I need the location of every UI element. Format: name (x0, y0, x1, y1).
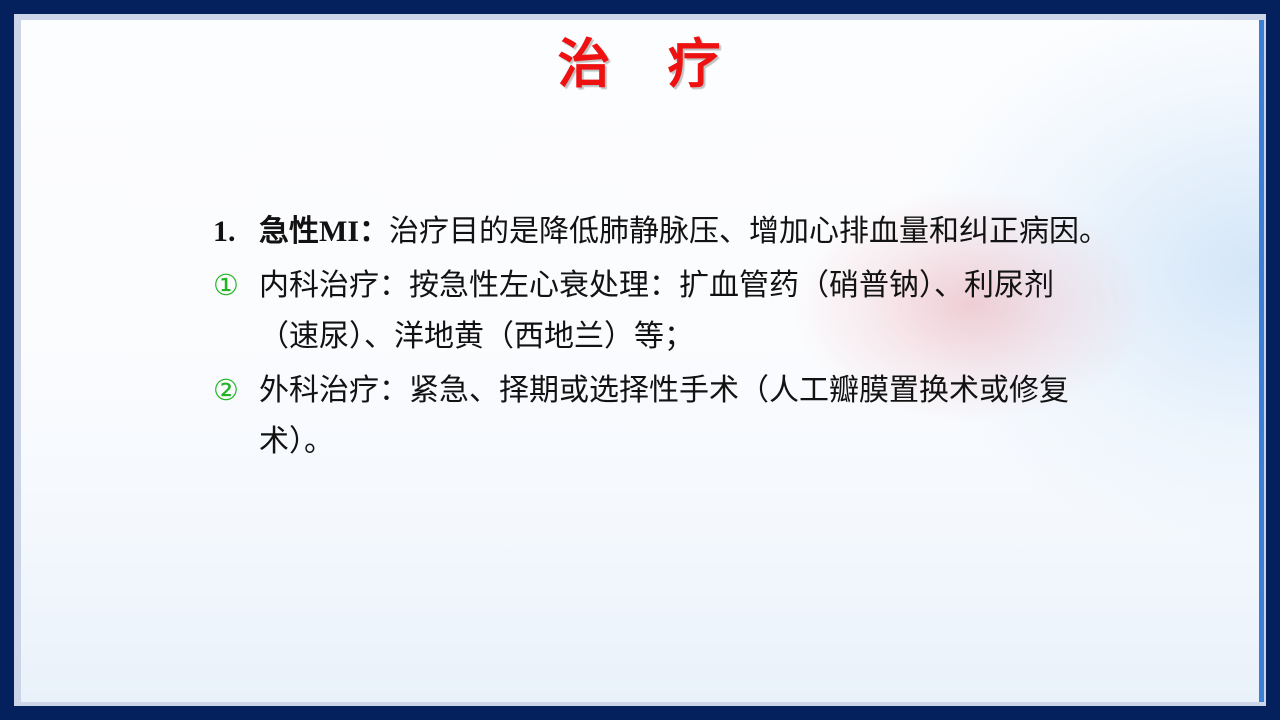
list-item-marker: ① (213, 260, 259, 311)
slide-content-area: 治 疗 1.急性MI：治疗目的是降低肺静脉压、增加心排血量和纠正病因。 ①内科治… (21, 20, 1259, 702)
list-item-text: 内科治疗：按急性左心衰处理：扩血管药（硝普钠）、利尿剂（速尿）、洋地黄（西地兰）… (259, 269, 1054, 353)
list-item-marker: ② (213, 365, 259, 416)
list-item-lead: 急性MI： (259, 215, 389, 248)
list-item-marker: 1. (213, 206, 259, 257)
list-item: ②外科治疗：紧急、择期或选择性手术（人工瓣膜置换术或修复术）。 (213, 365, 1113, 467)
list-item-text: 外科治疗：紧急、择期或选择性手术（人工瓣膜置换术或修复术）。 (259, 374, 1069, 458)
list-item: ①内科治疗：按急性左心衰处理：扩血管药（硝普钠）、利尿剂（速尿）、洋地黄（西地兰… (213, 260, 1113, 362)
page-title: 治 疗 (21, 35, 1259, 96)
content-list: 1.急性MI：治疗目的是降低肺静脉压、增加心排血量和纠正病因。 ①内科治疗：按急… (213, 206, 1113, 470)
list-item: 1.急性MI：治疗目的是降低肺静脉压、增加心排血量和纠正病因。 (213, 206, 1113, 257)
slide: 治 疗 1.急性MI：治疗目的是降低肺静脉压、增加心排血量和纠正病因。 ①内科治… (0, 0, 1280, 720)
list-item-text: 治疗目的是降低肺静脉压、增加心排血量和纠正病因。 (389, 215, 1109, 248)
